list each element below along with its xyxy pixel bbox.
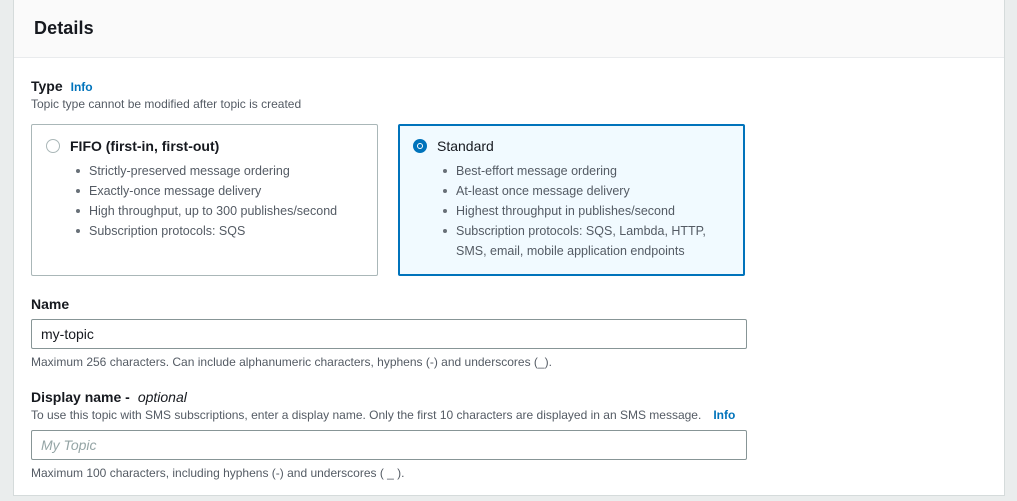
list-item: Strictly-preserved message ordering (76, 161, 363, 181)
panel-header: Details (14, 0, 1004, 58)
type-field-group: Type Info Topic type cannot be modified … (31, 78, 987, 276)
type-description: Topic type cannot be modified after topi… (31, 96, 987, 112)
standard-feature-list: Best-effort message ordering At-least on… (413, 161, 730, 261)
page-title: Details (34, 18, 94, 39)
name-field-group: Name Maximum 256 characters. Can include… (31, 296, 987, 369)
list-item: Subscription protocols: SQS, Lambda, HTT… (443, 221, 730, 261)
list-item: Exactly-once message delivery (76, 181, 363, 201)
fifo-title: FIFO (first-in, first-out) (70, 138, 219, 154)
type-options: FIFO (first-in, first-out) Strictly-pres… (31, 124, 987, 276)
type-label: Type (31, 78, 63, 94)
display-name-description-row: To use this topic with SMS subscriptions… (31, 407, 987, 423)
name-input[interactable] (31, 319, 747, 349)
name-label-row: Name (31, 296, 987, 312)
display-name-optional-label: optional (138, 389, 187, 405)
list-item: At-least once message delivery (443, 181, 730, 201)
standard-title: Standard (437, 138, 494, 154)
display-name-label-row: Display name - optional (31, 389, 987, 405)
fifo-header: FIFO (first-in, first-out) (46, 138, 363, 154)
display-name-label: Display name - (31, 389, 130, 405)
type-info-link[interactable]: Info (71, 80, 93, 94)
type-label-row: Type Info (31, 78, 987, 94)
list-item: Best-effort message ordering (443, 161, 730, 181)
standard-header: Standard (413, 138, 730, 154)
details-panel: Details Type Info Topic type cannot be m… (13, 0, 1005, 496)
radio-standard-icon[interactable] (413, 139, 427, 153)
name-label: Name (31, 296, 69, 312)
list-item: High throughput, up to 300 publishes/sec… (76, 201, 363, 221)
fifo-feature-list: Strictly-preserved message ordering Exac… (46, 161, 363, 241)
radio-fifo-icon[interactable] (46, 139, 60, 153)
display-name-constraint-text: Maximum 100 characters, including hyphen… (31, 466, 987, 480)
display-name-description: To use this topic with SMS subscriptions… (31, 407, 701, 423)
name-constraint-text: Maximum 256 characters. Can include alph… (31, 355, 987, 369)
display-name-info-link[interactable]: Info (713, 407, 735, 423)
display-name-field-group: Display name - optional To use this topi… (31, 389, 987, 480)
type-option-standard[interactable]: Standard Best-effort message ordering At… (398, 124, 745, 276)
list-item: Highest throughput in publishes/second (443, 201, 730, 221)
panel-body: Type Info Topic type cannot be modified … (14, 58, 1004, 480)
list-item: Subscription protocols: SQS (76, 221, 363, 241)
type-option-fifo[interactable]: FIFO (first-in, first-out) Strictly-pres… (31, 124, 378, 276)
display-name-input[interactable] (31, 430, 747, 460)
